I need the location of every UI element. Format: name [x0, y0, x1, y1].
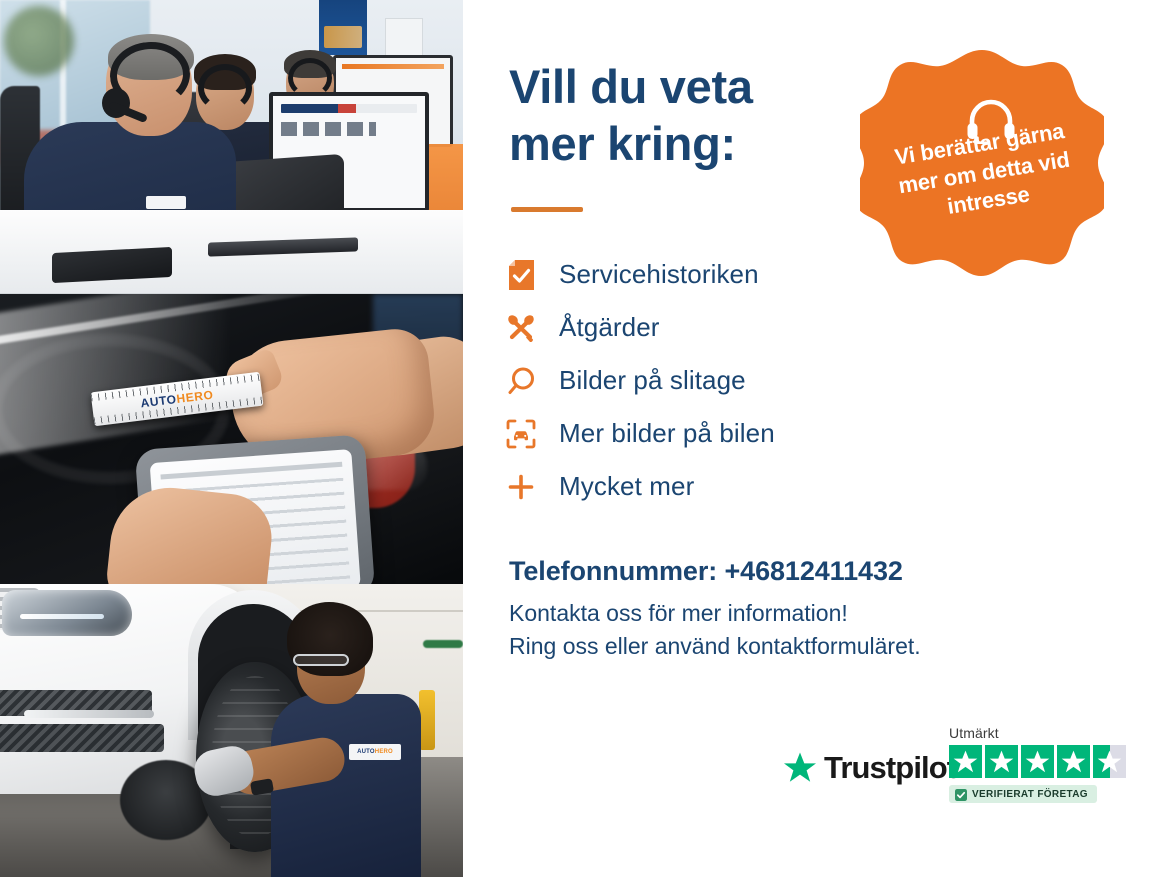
tools-cross-icon [505, 311, 537, 345]
feature-item-mycket-mer: Mycket mer [505, 460, 1025, 513]
phone-number[interactable]: Telefonnummer: +46812411432 [509, 556, 1069, 587]
feature-item-mer-bilder-pa-bilen: Mer bilder på bilen [505, 407, 1025, 460]
magnifier-icon [505, 364, 537, 398]
feature-item-atgarder: Åtgärder [505, 301, 1025, 354]
star-2 [985, 745, 1018, 778]
verified-business-label: VERIFIERAT FÖRETAG [972, 789, 1088, 800]
photo3-car-headlight [2, 590, 132, 636]
mechanic-tire-photo: AUTOHERO [0, 584, 463, 877]
photo3-mechanic-glasses [293, 654, 349, 666]
trustpilot-logo: Trustpilot [783, 750, 956, 786]
star-4 [1057, 745, 1090, 778]
photo3-badge-hero: HERO [375, 749, 393, 755]
car-scan-icon [505, 417, 537, 451]
contact-block: Telefonnummer: +46812411432 Kontakta oss… [509, 556, 1069, 662]
feature-label: Åtgärder [559, 312, 660, 343]
star-glyph [1025, 749, 1050, 774]
rating-label: Utmärkt [949, 725, 1141, 741]
feature-item-bilder-pa-slitage: Bilder på slitage [505, 354, 1025, 407]
photo3-badge-auto: AUTO [357, 749, 375, 755]
document-check-icon [505, 258, 537, 292]
verified-business-badge: VERIFIERAT FÖRETAG [949, 785, 1097, 803]
title-divider [511, 207, 583, 212]
content-panel: Vill du veta mer kring: Servicehistorike… [463, 0, 1170, 877]
photo3-mechanic: AUTOHERO [245, 598, 445, 877]
star-glyph [1097, 749, 1122, 774]
trustpilot-star-icon [783, 751, 817, 785]
star-3 [1021, 745, 1054, 778]
photo1-agent1-name-badge [146, 196, 186, 209]
star-1 [949, 745, 982, 778]
contact-line-2: Ring oss eller använd kontaktformuläret. [509, 630, 1069, 663]
callout-badge: Vi berättar gärna mer om detta vid intre… [860, 48, 1104, 304]
photo1-tablet [52, 247, 172, 283]
star-rating [949, 745, 1141, 778]
call-center-agents-photo [0, 0, 463, 294]
page-title-line-2: mer kring: [509, 117, 736, 170]
star-glyph [1061, 749, 1086, 774]
car-inspection-ruler-photo: AUTOHERO [0, 294, 463, 584]
photo3-bumper-vent-lower [0, 724, 164, 752]
trustpilot-widget[interactable]: Trustpilot Utmärkt [783, 725, 1143, 820]
contact-line-1: Kontakta oss för mer information! [509, 597, 1069, 630]
trustpilot-wordmark: Trustpilot [824, 750, 956, 786]
plus-icon [505, 470, 537, 504]
photo3-car-headlight-led [20, 614, 104, 619]
star-glyph [953, 749, 978, 774]
photo1-wall-poster [319, 0, 367, 55]
star-glyph [989, 749, 1014, 774]
photo-strip: AUTOHERO [0, 0, 463, 877]
page-title-line-1: Vill du veta [509, 60, 753, 113]
feature-label: Servicehistoriken [559, 259, 759, 290]
feature-label: Mer bilder på bilen [559, 418, 775, 449]
trustpilot-rating: Utmärkt [949, 725, 1141, 806]
photo3-mechanic-uniform-badge: AUTOHERO [349, 744, 401, 760]
promo-page: AUTOHERO [0, 0, 1170, 877]
star-5-half [1093, 745, 1126, 778]
photo3-bumper-chrome [24, 710, 154, 718]
feature-label: Bilder på slitage [559, 365, 746, 396]
feature-label: Mycket mer [559, 471, 694, 502]
verified-check-icon [955, 788, 967, 800]
photo1-wall-flyer [385, 18, 423, 58]
